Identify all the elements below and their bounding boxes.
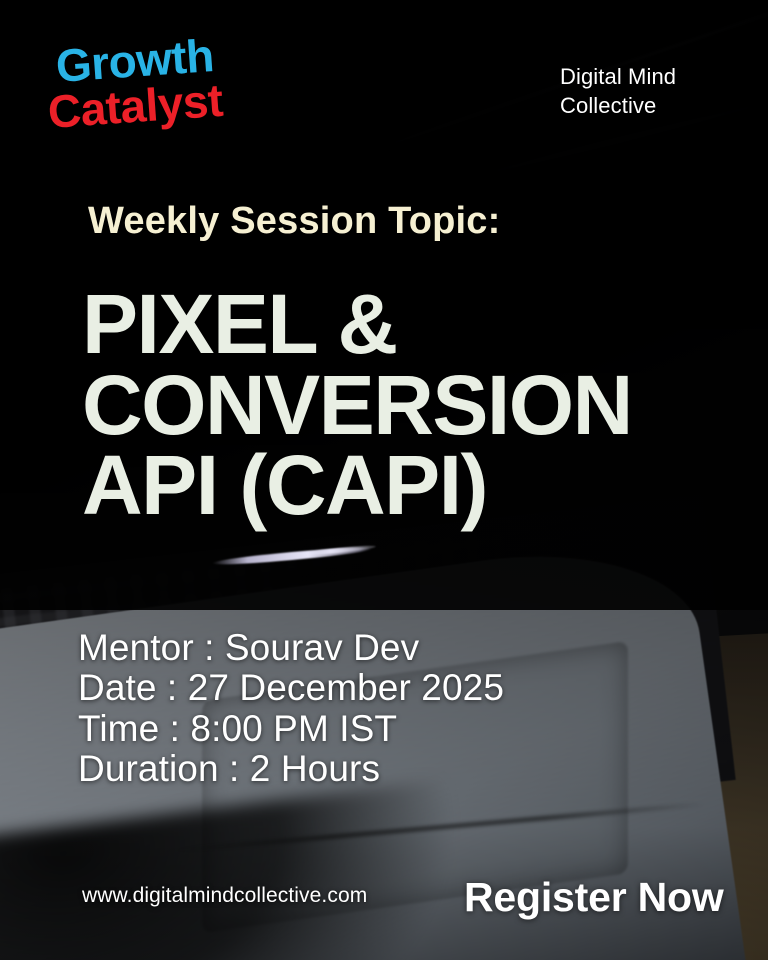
brand-line-1: Digital Mind: [560, 62, 676, 91]
detail-date: Date : 27 December 2025: [78, 668, 504, 708]
logo-word-catalyst: Catalyst: [46, 78, 224, 134]
headline-line-2: CONVERSION: [82, 365, 722, 446]
webinar-poster: Growth Catalyst Digital Mind Collective …: [0, 0, 768, 960]
page-title: PIXEL & CONVERSION API (CAPI): [82, 284, 722, 526]
poster-content: Growth Catalyst Digital Mind Collective …: [0, 0, 768, 960]
session-eyebrow: Weekly Session Topic:: [88, 200, 500, 243]
brand-name: Digital Mind Collective: [560, 62, 676, 121]
session-details: Mentor : Sourav Dev Date : 27 December 2…: [78, 628, 504, 789]
register-now-button[interactable]: Register Now: [464, 874, 724, 921]
website-url[interactable]: www.digitalmindcollective.com: [82, 884, 367, 908]
detail-time: Time : 8:00 PM IST: [78, 709, 504, 749]
detail-duration: Duration : 2 Hours: [78, 749, 504, 789]
detail-mentor: Mentor : Sourav Dev: [78, 628, 504, 668]
brand-line-2: Collective: [560, 91, 676, 120]
headline-line-3: API (CAPI): [82, 445, 722, 526]
growth-catalyst-logo: Growth Catalyst: [48, 44, 223, 134]
headline-line-1: PIXEL &: [82, 284, 722, 365]
